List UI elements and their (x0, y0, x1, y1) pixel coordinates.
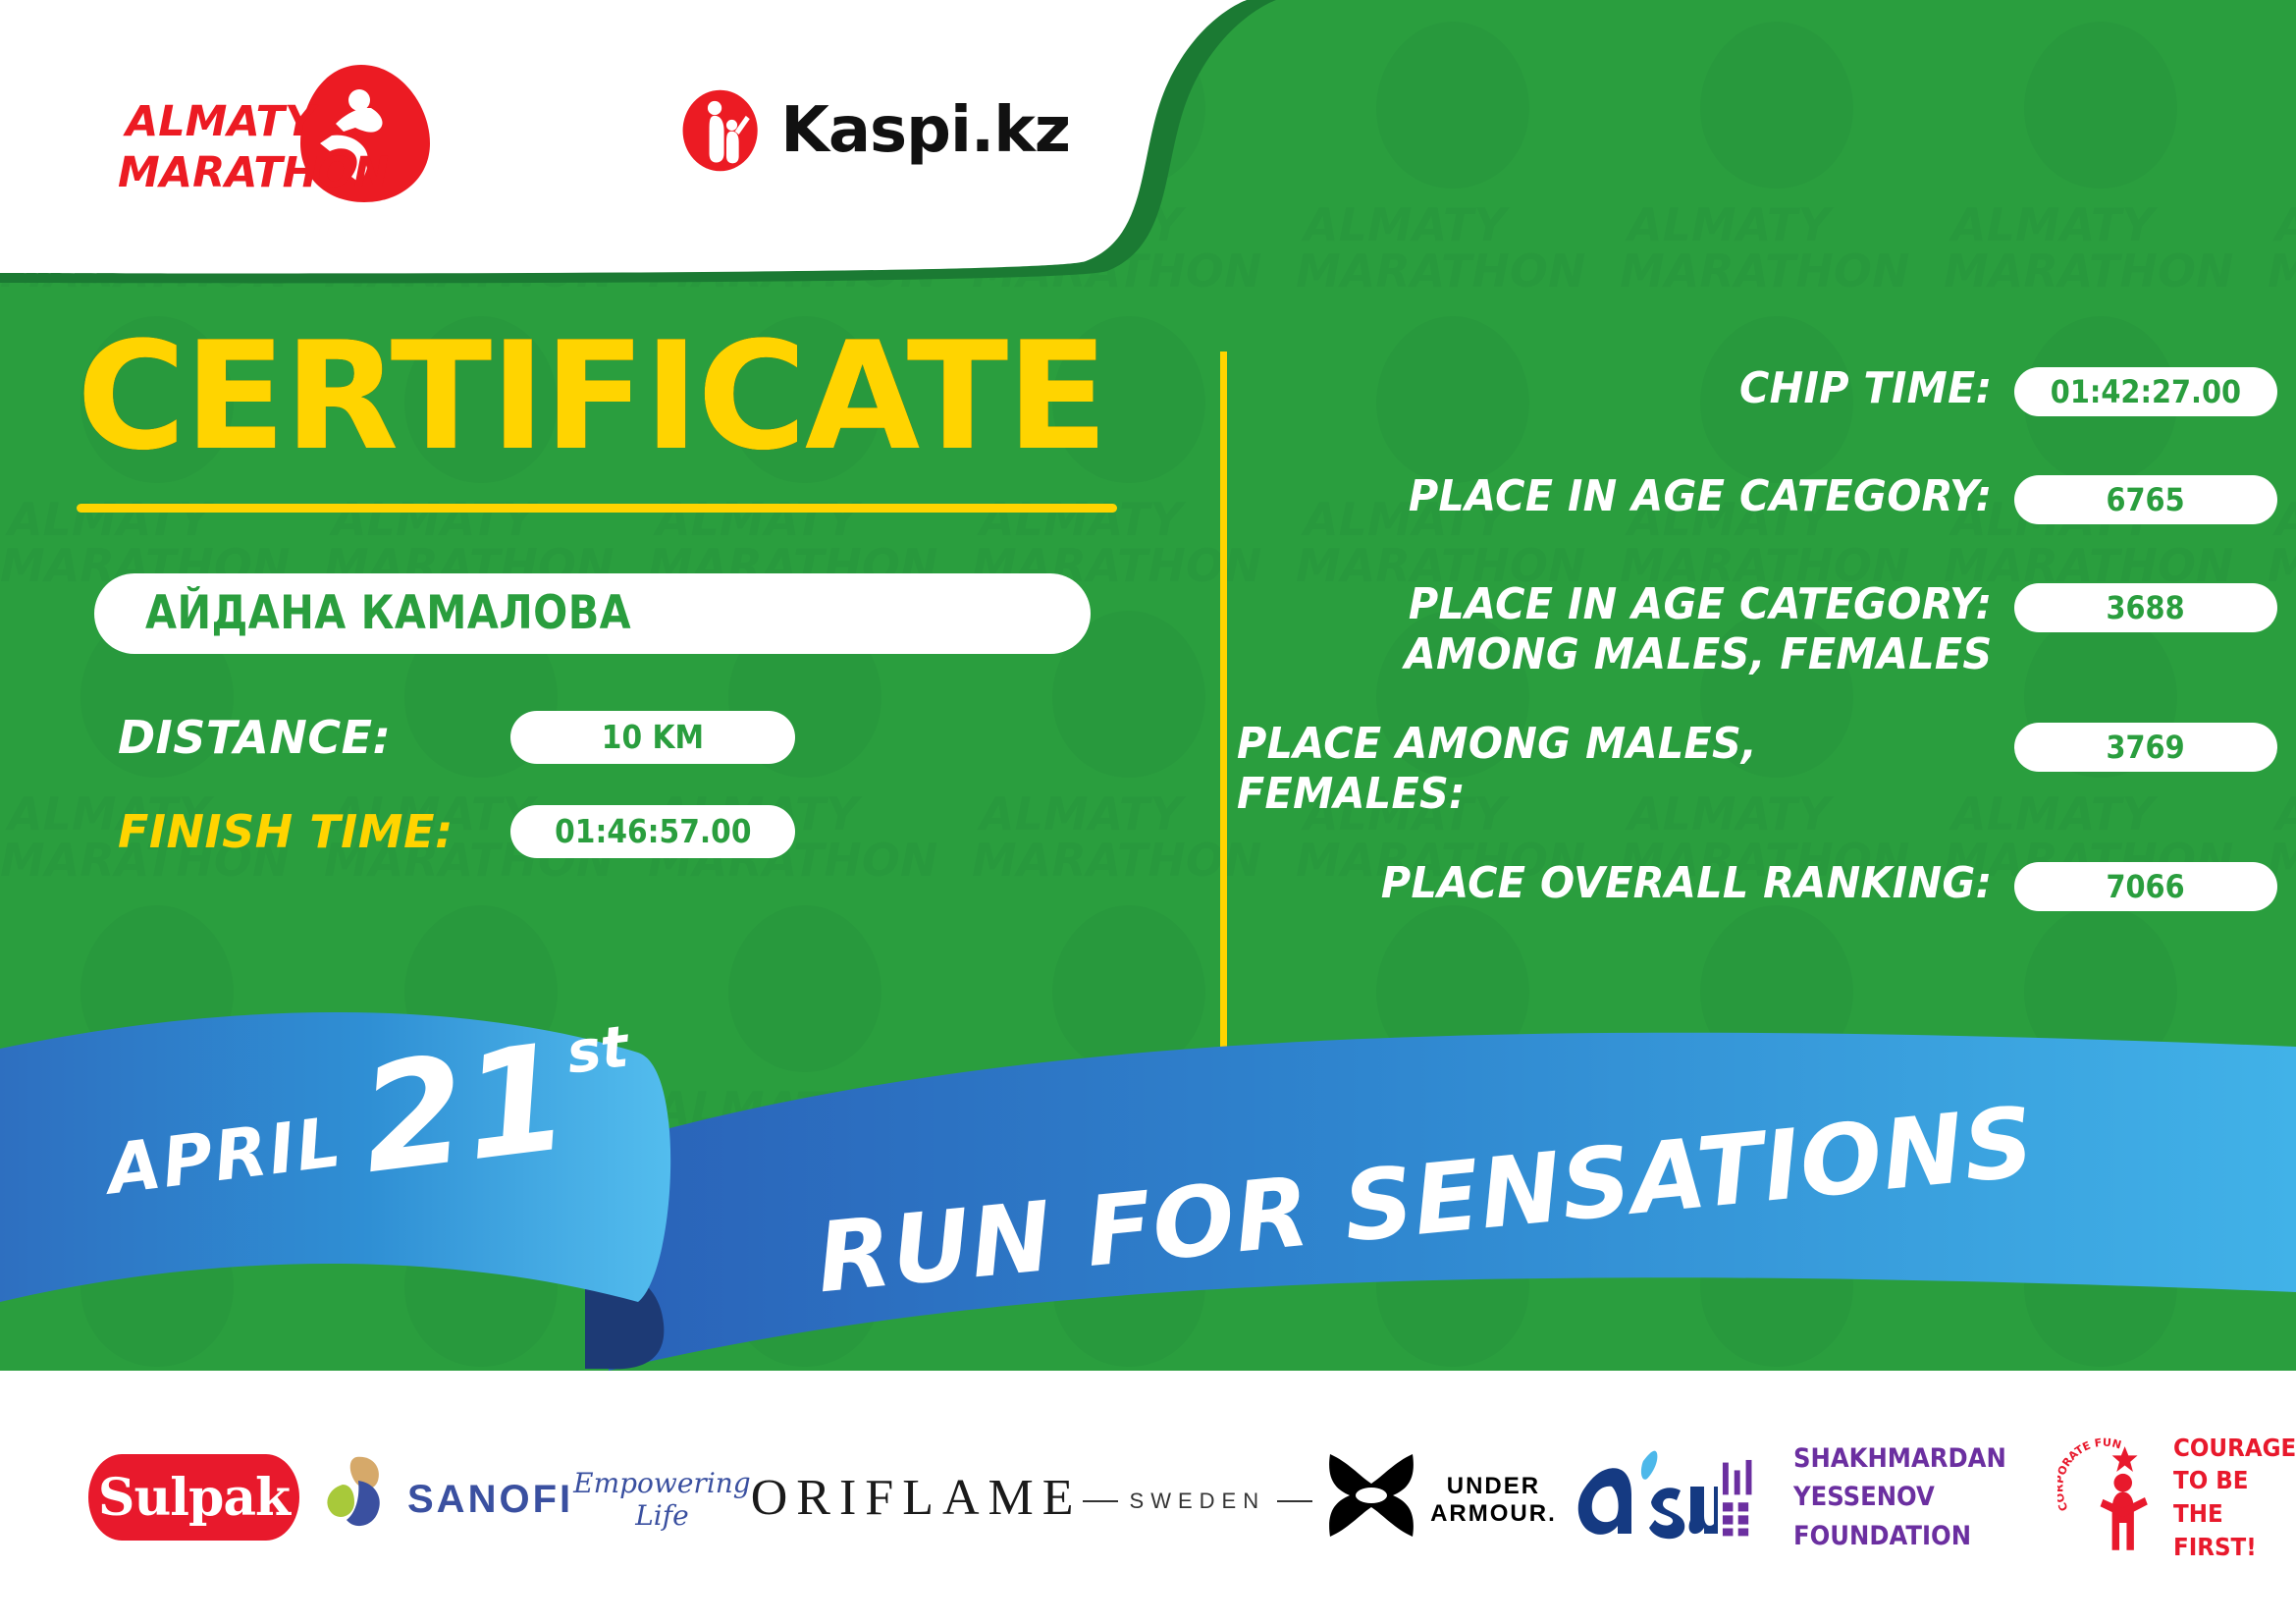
distance-value-pill: 10 KM (510, 711, 795, 764)
yessenov-logo-text: SHAKHMARDAN YESSENOV FOUNDATION (1793, 1439, 2031, 1554)
under-armour-logo-text: UNDER ARMOUR. (1430, 1473, 1557, 1528)
oriflame-sub: SWEDEN (1083, 1489, 1313, 1514)
place-age-category-gender-row: PLACE IN AGE CATEGORY: AMONG MALES, FEMA… (1237, 579, 2277, 679)
yessenov-mark-icon (1719, 1438, 1772, 1556)
almaty-marathon-logo: ALMATY MARATHON (118, 59, 442, 206)
chip-time-value: 01:42:27.00 (2051, 373, 2241, 410)
place-age-category-gender-value: 3688 (2107, 589, 2185, 626)
finish-time-value: 01:46:57.00 (555, 812, 751, 850)
chip-time-row: CHIP TIME: 01:42:27.00 (1237, 363, 2277, 432)
sponsor-sanofi: SANOFI Empowering Life (299, 1451, 751, 1544)
sanofi-tagline: Empowering Life (573, 1467, 751, 1532)
svg-text:ALMATY: ALMATY (123, 97, 319, 146)
corporate-fund-line2: TO BE (2173, 1464, 2296, 1497)
yessenov-line2: FOUNDATION (1793, 1517, 2031, 1555)
svg-text:CORPORATE FUND: CORPORATE FUND (2057, 1429, 2122, 1513)
place-overall-label: PLACE OVERALL RANKING: (1284, 858, 2014, 908)
participant-name-field: АЙДАНА КАМАЛОВА (94, 573, 1091, 654)
sponsor-corporate-fund: CORPORATE FUND COURAGE TO BE THE FIRST! (2057, 1429, 2296, 1566)
oriflame-rule-left (1083, 1500, 1118, 1502)
place-age-category-gender-value-pill: 3688 (2014, 583, 2277, 632)
under-armour-mark-icon (1312, 1450, 1430, 1545)
sponsor-bar: Sulpak SANOFI Empowering Life ORIFLAME S… (0, 1371, 2296, 1624)
distance-row: DISTANCE: 10 KM (118, 711, 1217, 764)
sponsor-asu (1557, 1443, 1719, 1551)
oriflame-rule-right (1277, 1500, 1312, 1502)
place-among-gender-label: PLACE AMONG MALES, FEMALES: (1237, 719, 1967, 819)
sponsor-oriflame: ORIFLAME SWEDEN (751, 1469, 1312, 1527)
place-age-category-label: PLACE IN AGE CATEGORY: (1284, 471, 2014, 521)
corporate-fund-line3: THE FIRST! (2173, 1497, 2296, 1564)
chip-time-value-pill: 01:42:27.00 (2014, 367, 2277, 416)
sponsor-sulpak: Sulpak (88, 1454, 299, 1541)
certificate-canvas: ALMATY MARATHON ALMATY MARATHON (0, 0, 2296, 1624)
yessenov-line1: SHAKHMARDAN YESSENOV (1793, 1439, 2031, 1516)
left-column: CERTIFICATE АЙДАНА КАМАЛОВА DISTANCE: 10… (0, 324, 1217, 899)
oriflame-tagline: SWEDEN (1130, 1489, 1266, 1514)
sponsor-under-armour: UNDER ARMOUR. (1312, 1450, 1557, 1545)
place-among-gender-row: PLACE AMONG MALES, FEMALES: 3769 (1237, 719, 2277, 819)
sanofi-mark-icon (299, 1451, 407, 1544)
place-overall-row: PLACE OVERALL RANKING: 7066 (1237, 858, 2277, 927)
finish-time-label: FINISH TIME: (118, 805, 510, 858)
kaspi-mark-icon (677, 77, 763, 185)
oriflame-logo-text: ORIFLAME (751, 1469, 1083, 1527)
place-among-gender-value-pill: 3769 (2014, 723, 2277, 772)
sulpak-logo: Sulpak (88, 1454, 299, 1541)
place-among-gender-value: 3769 (2107, 729, 2185, 766)
kaspi-logo: Kaspi.kz (677, 77, 1070, 185)
finish-time-value-pill: 01:46:57.00 (510, 805, 795, 858)
distance-label: DISTANCE: (118, 711, 510, 764)
kaspi-logo-text: Kaspi.kz (780, 99, 1070, 162)
title-underline (77, 504, 1117, 513)
sponsor-yessenov-foundation: SHAKHMARDAN YESSENOV FOUNDATION (1719, 1438, 2057, 1556)
participant-name-value: АЙДАНА КАМАЛОВА (145, 586, 631, 640)
place-overall-value-pill: 7066 (2014, 862, 2277, 911)
svg-text:MARATHON: MARATHON (118, 148, 389, 197)
place-age-category-row: PLACE IN AGE CATEGORY: 6765 (1237, 471, 2277, 540)
finish-time-row: FINISH TIME: 01:46:57.00 (118, 805, 1217, 858)
corporate-fund-mark-icon: CORPORATE FUND (2057, 1429, 2163, 1566)
chip-time-label: CHIP TIME: (1284, 363, 2014, 413)
sulpak-logo-text: Sulpak (98, 1468, 290, 1528)
left-fields: DISTANCE: 10 KM FINISH TIME: 01:46:57.00 (0, 711, 1217, 858)
asu-logo-icon (1557, 1443, 1719, 1551)
ribbon-day-suffix: st (563, 1013, 632, 1087)
sanofi-logo-text: SANOFI (407, 1478, 573, 1522)
page-title: CERTIFICATE (0, 324, 1217, 470)
corporate-fund-line1: COURAGE (2173, 1432, 2296, 1465)
ribbon-banner: APRIL 21 st RUN FOR SENSATIONS (0, 978, 2296, 1371)
corporate-fund-logo-text: COURAGE TO BE THE FIRST! (2173, 1432, 2296, 1564)
place-age-category-value: 6765 (2107, 481, 2185, 518)
place-age-category-gender-label: PLACE IN AGE CATEGORY: AMONG MALES, FEMA… (1284, 579, 2014, 679)
place-overall-value: 7066 (2107, 868, 2185, 905)
right-column: CHIP TIME: 01:42:27.00 PLACE IN AGE CATE… (1237, 363, 2277, 966)
distance-value: 10 KM (602, 718, 704, 756)
place-age-category-value-pill: 6765 (2014, 475, 2277, 524)
ribbon-day: 21 (355, 1035, 574, 1184)
